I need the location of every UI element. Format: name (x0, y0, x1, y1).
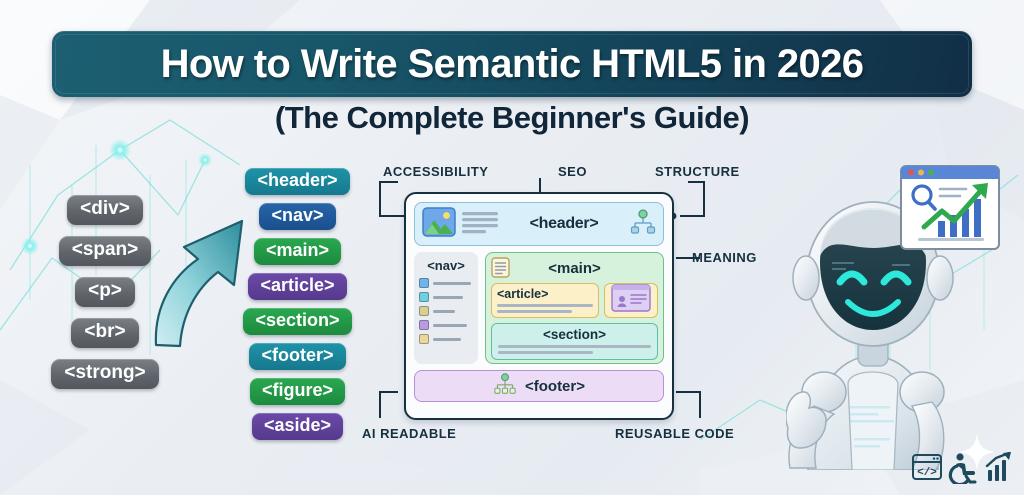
callout-reusable-code: REUSABLE CODE (615, 426, 734, 441)
legacy-tag-pill: <br> (71, 318, 138, 348)
semantic-tag-pill-article: <article> (248, 273, 346, 300)
browser-dot-red (908, 170, 914, 176)
diagram-header-row: <header> (414, 202, 664, 246)
diagram-nav-label: <nav> (419, 258, 473, 273)
diagram-header-label: <header> (504, 215, 624, 233)
semantic-tag-pill-header: <header> (245, 168, 349, 195)
nav-item-line (433, 338, 461, 341)
legacy-tag-pill: <strong> (51, 359, 158, 389)
semantic-tag-pill-footer: <footer> (249, 343, 345, 370)
page-subtitle: (The Complete Beginner's Guide) (0, 100, 1024, 136)
nav-item-swatch (419, 292, 429, 302)
diagram-main-panel: <main> <article> (485, 252, 664, 364)
diagram-body-row: <nav> (414, 252, 664, 364)
diagram-footer-row: <footer> (414, 370, 664, 402)
callout-ai-readable: AI READABLE (362, 426, 456, 441)
nav-item-swatch (419, 278, 429, 288)
legacy-tag-pill: <p> (75, 277, 135, 307)
feature-icon-row: </> (912, 452, 1012, 484)
callout-seo: SEO (558, 164, 587, 179)
nav-item-line (433, 324, 467, 327)
semantic-page-layout-diagram: <header> <nav> (404, 192, 674, 420)
text-lines-placeholder (462, 210, 498, 239)
semantic-tag-pill-aside: <aside> (252, 413, 343, 440)
legacy-tag-pill: <span> (59, 236, 152, 266)
nav-list-item (419, 278, 473, 288)
nav-item-swatch (419, 334, 429, 344)
nav-item-swatch (419, 306, 429, 316)
browser-dot-green (928, 170, 934, 176)
nav-list-item (419, 334, 473, 344)
semantic-tag-pill-figure: <figure> (250, 378, 345, 405)
page-title: How to Write Semantic HTML5 in 2026 (161, 42, 864, 87)
browser-seo-chart-card (900, 165, 1000, 250)
nav-item-line (433, 296, 463, 299)
page-title-banner: How to Write Semantic HTML5 in 2026 (52, 31, 972, 97)
diagram-aside-block (604, 283, 658, 318)
document-icon (491, 257, 510, 283)
callout-structure: STRUCTURE (655, 164, 740, 179)
profile-card-icon (611, 284, 651, 317)
nav-item-swatch (419, 320, 429, 330)
semantic-tag-pill-nav: <nav> (259, 203, 335, 230)
nav-list-item (419, 292, 473, 302)
diagram-footer-label: <footer> (525, 378, 585, 395)
svg-text:</>: </> (917, 467, 937, 479)
callout-meaning: MEANING (692, 250, 757, 265)
legacy-tag-pill: <div> (67, 195, 143, 225)
growth-chart-icon (987, 452, 1011, 481)
sitemap-hierarchy-icon (493, 373, 517, 400)
image-placeholder-icon (422, 207, 456, 242)
nav-item-line (433, 282, 471, 285)
diagram-article-block: <article> (491, 283, 599, 318)
accessibility-wheelchair-icon (950, 453, 975, 484)
diagram-section-block: <section> (491, 323, 658, 360)
nav-list-item (419, 320, 473, 330)
diagram-section-label: <section> (498, 327, 651, 342)
sitemap-hierarchy-icon (630, 209, 656, 240)
diagram-main-label: <main> (510, 260, 639, 277)
infographic-canvas: How to Write Semantic HTML5 in 2026 (The… (0, 0, 1024, 495)
callout-accessibility: ACCESSIBILITY (383, 164, 488, 179)
browser-dot-yellow (918, 170, 924, 176)
nav-list-item (419, 306, 473, 316)
semantic-tag-pill-main: <main> (254, 238, 341, 265)
diagram-article-label: <article> (497, 287, 593, 301)
nav-item-line (433, 310, 455, 313)
diagram-nav-panel: <nav> (414, 252, 478, 364)
semantic-tag-pill-section: <section> (243, 308, 351, 335)
semantic-tag-list: <header> <nav> <main> <article> <section… (225, 168, 370, 448)
